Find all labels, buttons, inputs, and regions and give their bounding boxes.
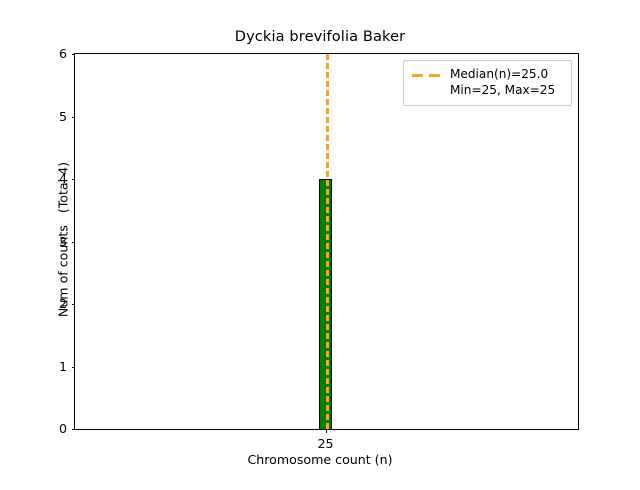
y-tick-1 <box>72 367 76 368</box>
y-axis-label: Num of counts (Total 4) <box>56 0 71 490</box>
legend-label-line2: Min=25, Max=25 <box>450 83 555 99</box>
y-tick-5 <box>72 117 76 118</box>
y-tick-6 <box>72 54 76 55</box>
plot-area: 0 1 2 3 4 5 6 Num of counts (Total 4) 25 <box>75 54 578 429</box>
chart-legend[interactable]: Median(n)=25.0 Min=25, Max=25 <box>403 60 572 106</box>
median-line <box>326 54 329 429</box>
y-tick-4 <box>72 179 76 180</box>
y-tick-2 <box>72 304 76 305</box>
page-title: Dyckia brevifolia Baker <box>0 28 640 45</box>
x-tick-25 <box>326 429 327 433</box>
legend-label-line1: Median(n)=25.0 <box>450 67 555 83</box>
y-tick-0 <box>72 429 76 430</box>
plot-axes: 0 1 2 3 4 5 6 Num of counts (Total 4) 25 <box>74 53 579 430</box>
x-axis-label: Chromosome count (n) <box>0 452 640 467</box>
legend-label: Median(n)=25.0 Min=25, Max=25 <box>450 67 555 99</box>
y-tick-3 <box>72 242 76 243</box>
legend-dashed-line-icon <box>411 68 443 83</box>
figure-canvas: Dyckia brevifolia Baker 0 1 2 3 4 5 6 Nu… <box>0 0 640 480</box>
x-tick-label-25: 25 <box>317 436 333 451</box>
